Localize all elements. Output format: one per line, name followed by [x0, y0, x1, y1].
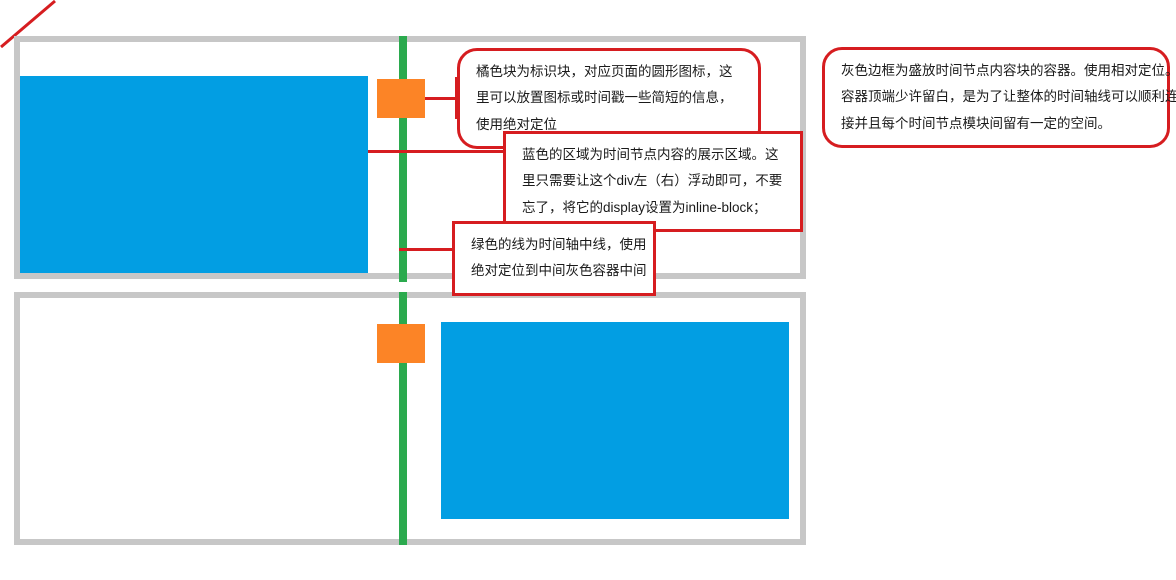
callout-marker-line-1: 橘色块为标识块，对应页面的圆形图标，这	[476, 59, 744, 85]
callout-content-block: 蓝色的区域为时间节点内容的展示区域。这 里只需要让这个div左（右）浮动即可，不…	[503, 131, 803, 232]
content-block-1	[20, 76, 368, 273]
diagram-canvas: 橘色块为标识块，对应页面的圆形图标，这 里可以放置图标或时间戳一些简短的信息， …	[0, 0, 1176, 580]
callout-content-line-3: 忘了，将它的display设置为inline-block；	[522, 195, 786, 221]
content-block-2	[441, 322, 789, 519]
callout-marker-line-2: 里可以放置图标或时间戳一些简短的信息，	[476, 85, 744, 111]
leader-line-content	[368, 150, 505, 153]
marker-block-1	[377, 79, 425, 118]
callout-axis-line-1: 绿色的线为时间轴中线，使用	[471, 232, 639, 258]
callout-container-line-2: 容器顶端少许留白，是为了让整体的时间轴线可以顺利连	[841, 84, 1153, 110]
callout-content-line-1: 蓝色的区域为时间节点内容的展示区域。这	[522, 142, 786, 168]
callout-axis-line-2: 绝对定位到中间灰色容器中间	[471, 258, 639, 284]
leader-line-marker	[425, 97, 459, 100]
marker-block-2	[377, 324, 425, 363]
timeline-axis-line-1	[399, 36, 407, 282]
leader-line-axis	[399, 248, 455, 251]
callout-axis-line: 绿色的线为时间轴中线，使用 绝对定位到中间灰色容器中间	[452, 221, 656, 296]
callout-gray-container: 灰色边框为盛放时间节点内容块的容器。使用相对定位。 容器顶端少许留白，是为了让整…	[822, 47, 1170, 148]
callout-container-line-1: 灰色边框为盛放时间节点内容块的容器。使用相对定位。	[841, 58, 1153, 84]
callout-content-line-2: 里只需要让这个div左（右）浮动即可，不要	[522, 168, 786, 194]
callout-container-line-3: 接并且每个时间节点模块间留有一定的空间。	[841, 111, 1153, 137]
